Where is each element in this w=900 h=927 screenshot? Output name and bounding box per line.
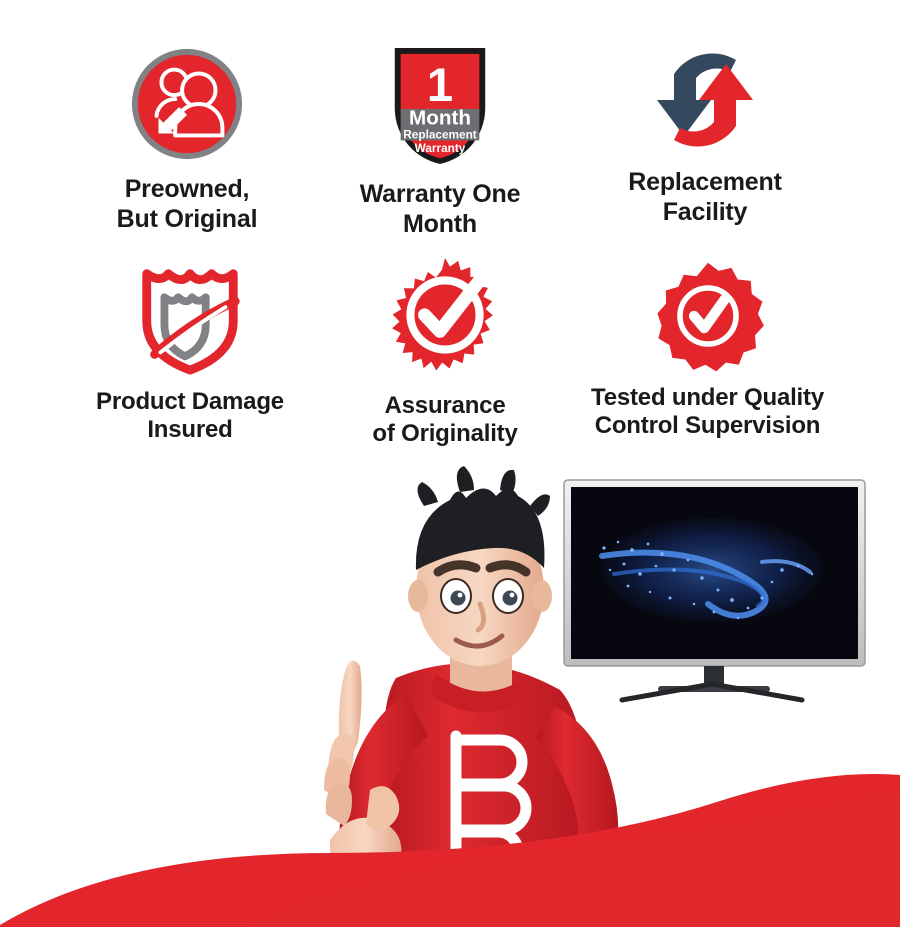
feature-replacement-label: Replacement Facility: [580, 168, 830, 227]
feature-replacement: Replacement Facility: [580, 40, 830, 227]
feature-preowned: Preowned, But Original: [62, 45, 312, 234]
feature-damage: Product Damage Insured: [60, 258, 320, 445]
promo-feature-poster: Preowned, But Original 1 Month Replaceme…: [0, 0, 900, 927]
warranty-line2: Warranty: [415, 141, 466, 155]
cracked-shield-icon: [60, 258, 320, 376]
scalloped-check-badge-icon: [565, 260, 850, 372]
feature-tested-label: Tested under Quality Control Supervision: [565, 384, 850, 441]
preowned-user-swap-icon: [62, 45, 312, 163]
feature-tested: Tested under Quality Control Supervision: [565, 260, 850, 441]
starburst-check-icon: [330, 256, 560, 378]
left-column-mask: [0, 440, 305, 860]
feature-warranty-label: Warranty One Month: [320, 180, 560, 239]
character-right-hand: [568, 843, 636, 873]
warranty-period: Month: [409, 107, 471, 130]
two-arrows-exchange-icon: [580, 40, 830, 160]
feature-assurance: Assurance of Originality: [330, 256, 560, 449]
warranty-number: 1: [427, 59, 453, 112]
feature-warranty: 1 Month Replacement Warranty Warranty On…: [320, 38, 560, 239]
feature-preowned-label: Preowned, But Original: [62, 175, 312, 234]
warranty-shield-badge-icon: 1 Month Replacement Warranty: [320, 38, 560, 170]
feature-damage-label: Product Damage Insured: [60, 388, 320, 445]
hero-illustration: [300, 440, 900, 927]
warranty-line1: Replacement: [403, 127, 477, 141]
mascot-character: [310, 450, 650, 927]
